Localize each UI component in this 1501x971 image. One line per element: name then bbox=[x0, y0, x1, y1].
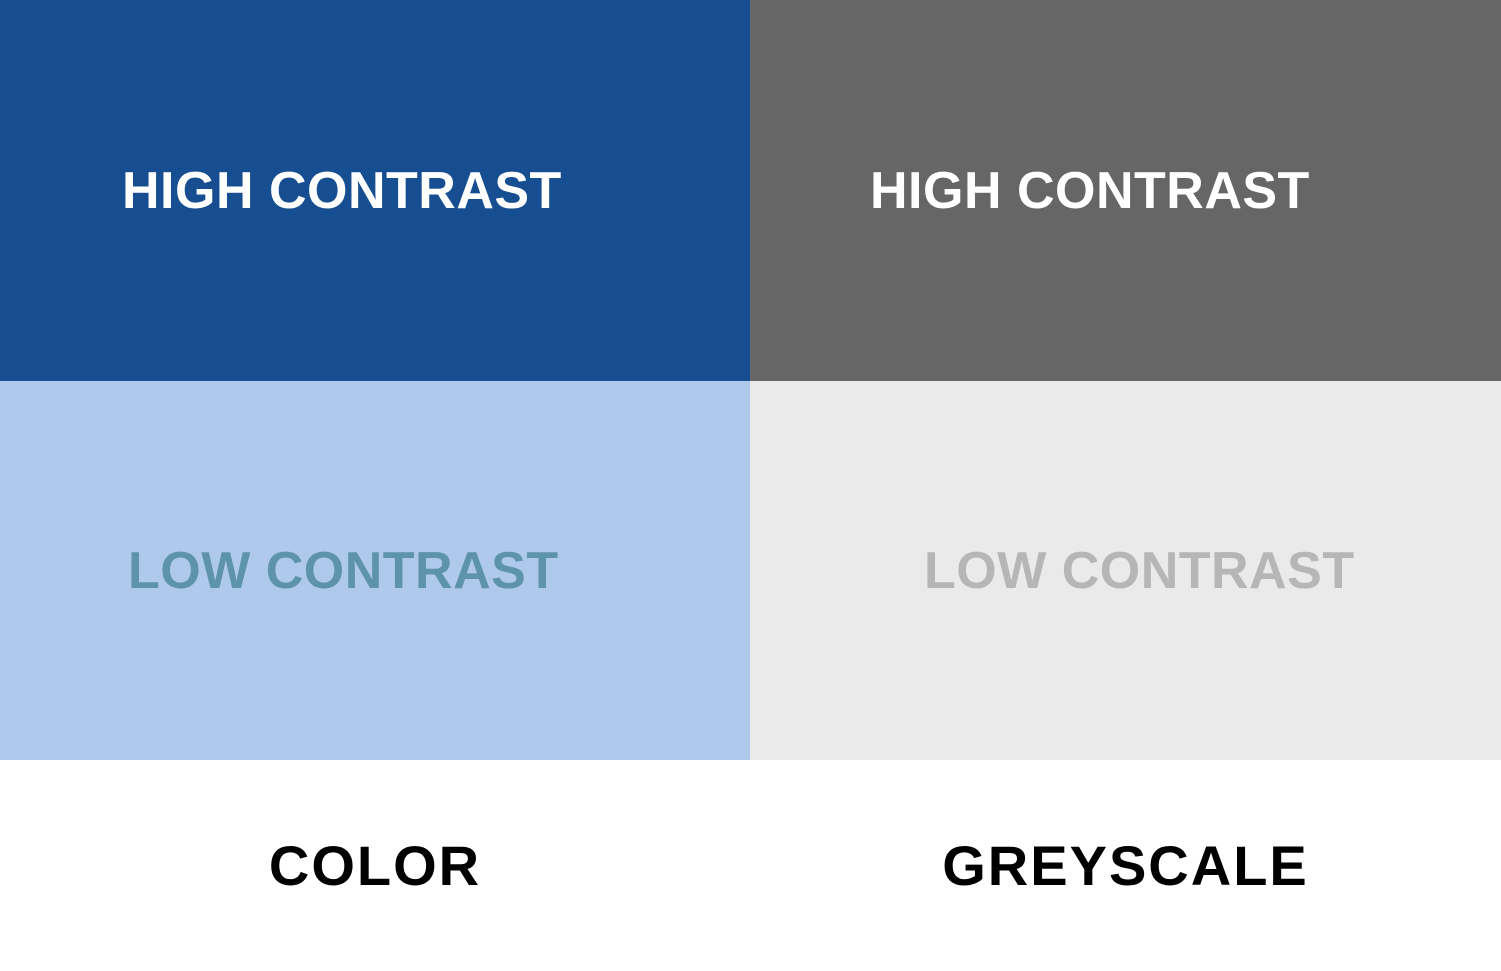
swatch-grid: HIGH CONTRAST HIGH CONTRAST LOW CONTRAST… bbox=[0, 0, 1501, 760]
contrast-comparison-figure: HIGH CONTRAST HIGH CONTRAST LOW CONTRAST… bbox=[0, 0, 1501, 971]
caption-color: COLOR bbox=[269, 838, 481, 894]
swatch-greyscale-high-contrast: HIGH CONTRAST bbox=[750, 0, 1501, 381]
swatch-greyscale-low-contrast: LOW CONTRAST bbox=[750, 381, 1501, 760]
swatch-label-color-high-contrast: HIGH CONTRAST bbox=[122, 165, 562, 217]
caption-cell-color: COLOR bbox=[0, 760, 750, 971]
swatch-label-greyscale-low-contrast: LOW CONTRAST bbox=[924, 545, 1355, 597]
swatch-color-high-contrast: HIGH CONTRAST bbox=[0, 0, 750, 381]
caption-greyscale: GREYSCALE bbox=[942, 838, 1309, 894]
caption-row: COLOR GREYSCALE bbox=[0, 760, 1501, 971]
swatch-label-color-low-contrast: LOW CONTRAST bbox=[128, 545, 559, 597]
swatch-label-greyscale-high-contrast: HIGH CONTRAST bbox=[870, 165, 1310, 217]
caption-cell-greyscale: GREYSCALE bbox=[750, 760, 1501, 971]
swatch-color-low-contrast: LOW CONTRAST bbox=[0, 381, 750, 760]
